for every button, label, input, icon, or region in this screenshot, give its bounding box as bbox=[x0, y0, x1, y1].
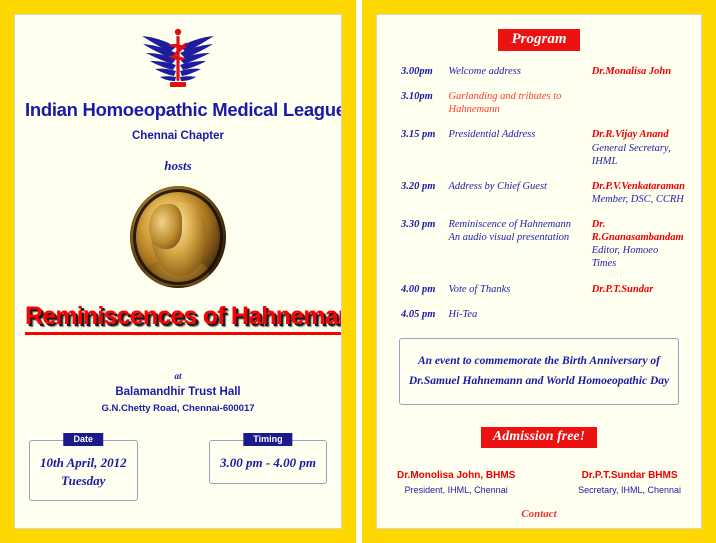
admission-badge: Admission free! bbox=[481, 427, 597, 448]
left-panel: Indian Homoeopathic Medical League Chenn… bbox=[0, 0, 356, 543]
contact-clinic-line: Dr.P.T.Sundar, Sree Padmini Homoeo Clini… bbox=[393, 527, 685, 529]
officer-president: Dr.Monolisa John, BHMS President, IHML, … bbox=[397, 470, 515, 495]
schedule-spacer bbox=[393, 299, 685, 308]
schedule-item: Welcome address bbox=[448, 65, 591, 81]
schedule-time: 3.20 pm bbox=[393, 180, 448, 209]
schedule-time: 3.00pm bbox=[393, 65, 448, 81]
program-heading-wrap: Program bbox=[393, 29, 685, 51]
date-box-legend: Date bbox=[64, 433, 104, 446]
officer-role: President, IHML, Chennai bbox=[397, 485, 515, 495]
schedule-person-name: Dr.P.V.Venkataraman bbox=[592, 180, 685, 193]
schedule-time: 3.10pm bbox=[393, 90, 448, 119]
ihml-logo bbox=[25, 23, 331, 97]
schedule-person: Dr. R.GnanasambandamEditor, Homoeo Times bbox=[592, 218, 685, 274]
schedule-item-sub: An audio visual presentation bbox=[448, 231, 591, 244]
schedule-person-name: Dr.P.T.Sundar bbox=[592, 283, 685, 296]
commemoration-line-2: Dr.Samuel Hahnemann and World Homoeopath… bbox=[408, 371, 670, 391]
commemoration-note: An event to commemorate the Birth Annive… bbox=[399, 338, 679, 405]
timing-box-legend: Timing bbox=[243, 433, 292, 446]
commemoration-line-1: An event to commemorate the Birth Annive… bbox=[408, 351, 670, 371]
officer-role: Secretary, IHML, Chennai bbox=[578, 485, 681, 495]
hosts-word: hosts bbox=[25, 158, 331, 174]
schedule-item: Reminiscence of HahnemannAn audio visual… bbox=[448, 218, 591, 274]
schedule-row: 3.10pmGarlanding and tributes to Hahnema… bbox=[393, 90, 685, 119]
schedule-person: Dr.R.Vijay AnandGeneral Secretary, IHML bbox=[592, 128, 685, 170]
organization-name: Indian Homoeopathic Medical League bbox=[25, 99, 331, 121]
schedule-person-name: Dr.R.Vijay Anand bbox=[592, 128, 685, 141]
timing-box: Timing 3.00 pm - 4.00 pm bbox=[209, 440, 327, 484]
winged-caduceus-icon bbox=[130, 25, 226, 95]
schedule-spacer bbox=[393, 81, 685, 90]
schedule-row: 3.00pmWelcome addressDr.Monalisa John bbox=[393, 65, 685, 81]
right-panel-content: Program 3.00pmWelcome addressDr.Monalisa… bbox=[376, 14, 702, 529]
schedule-person: Dr.P.V.VenkataramanMember, DSC, CCRH bbox=[592, 180, 685, 209]
contact-clinic-name: Sree Padmini Homoeo Clinic bbox=[512, 528, 636, 529]
medal-image bbox=[130, 186, 226, 288]
schedule-person-title: General Secretary, IHML bbox=[592, 142, 685, 168]
venue-preposition: at bbox=[25, 371, 331, 381]
schedule-person bbox=[592, 308, 685, 324]
venue-name: Balamandhir Trust Hall bbox=[25, 386, 331, 398]
schedule-person-title: Member, DSC, CCRH bbox=[592, 193, 685, 206]
schedule-time: 3.15 pm bbox=[393, 128, 448, 170]
hahnemann-medal bbox=[25, 186, 331, 288]
medal-rim bbox=[133, 189, 223, 285]
officer-secretary: Dr.P.T.Sundar BHMS Secretary, IHML, Chen… bbox=[578, 470, 681, 495]
schedule-row: 3.20 pmAddress by Chief GuestDr.P.V.Venk… bbox=[393, 180, 685, 209]
schedule-time: 3.30 pm bbox=[393, 218, 448, 274]
schedule-item: Garlanding and tributes to Hahnemann bbox=[448, 90, 591, 119]
officers-row: Dr.Monolisa John, BHMS President, IHML, … bbox=[393, 470, 685, 495]
officer-name: Dr.P.T.Sundar BHMS bbox=[578, 470, 681, 481]
schedule-person-title: Editor, Homoeo Times bbox=[592, 244, 685, 270]
date-time-row: Date 10th April, 2012 Tuesday Timing 3.0… bbox=[25, 440, 331, 501]
chapter-name: Chennai Chapter bbox=[25, 130, 331, 142]
schedule-spacer bbox=[393, 274, 685, 283]
date-box: Date 10th April, 2012 Tuesday bbox=[29, 440, 138, 501]
schedule-item-main: Reminiscence of Hahnemann bbox=[448, 218, 591, 231]
event-title: Reminiscences of Hahnemann bbox=[25, 302, 342, 335]
admission-wrap: Admission free! bbox=[393, 427, 685, 448]
schedule-spacer bbox=[393, 171, 685, 180]
right-panel: Program 3.00pmWelcome addressDr.Monalisa… bbox=[362, 0, 716, 543]
schedule-item: Presidential Address bbox=[448, 128, 591, 170]
contact-details: Dr.P.T.Sundar, Sree Padmini Homoeo Clini… bbox=[393, 527, 685, 529]
venue-address: G.N.Chetty Road, Chennai-600017 bbox=[25, 403, 331, 414]
contact-person-name: Dr.P.T.Sundar, bbox=[442, 527, 511, 529]
schedule-row: 4.05 pmHi-Tea bbox=[393, 308, 685, 324]
schedule-person-name: Dr. R.Gnanasambandam bbox=[592, 218, 685, 244]
left-panel-content: Indian Homoeopathic Medical League Chenn… bbox=[14, 14, 342, 529]
officer-name: Dr.Monolisa John, BHMS bbox=[397, 470, 515, 481]
timing-value: 3.00 pm - 4.00 pm bbox=[220, 454, 316, 472]
schedule-person-name: Dr.Monalisa John bbox=[592, 65, 685, 78]
schedule-person: Dr.P.T.Sundar bbox=[592, 283, 685, 299]
contact-heading: Contact bbox=[393, 508, 685, 520]
schedule-person: Dr.Monalisa John bbox=[592, 65, 685, 81]
date-value-line2: Tuesday bbox=[40, 472, 127, 490]
date-value-line1: 10th April, 2012 bbox=[40, 454, 127, 472]
schedule-row: 3.15 pmPresidential AddressDr.R.Vijay An… bbox=[393, 128, 685, 170]
schedule-time: 4.05 pm bbox=[393, 308, 448, 324]
schedule-row: 4.00 pmVote of ThanksDr.P.T.Sundar bbox=[393, 283, 685, 299]
invitation-flyer: Indian Homoeopathic Medical League Chenn… bbox=[0, 0, 716, 543]
program-heading: Program bbox=[498, 29, 579, 51]
program-schedule: 3.00pmWelcome addressDr.Monalisa John3.1… bbox=[393, 65, 685, 324]
schedule-spacer bbox=[393, 209, 685, 218]
schedule-time: 4.00 pm bbox=[393, 283, 448, 299]
schedule-row: 3.30 pmReminiscence of HahnemannAn audio… bbox=[393, 218, 685, 274]
schedule-item: Vote of Thanks bbox=[448, 283, 591, 299]
schedule-item: Hi-Tea bbox=[448, 308, 591, 324]
schedule-item: Address by Chief Guest bbox=[448, 180, 591, 209]
schedule-spacer bbox=[393, 119, 685, 128]
schedule-person bbox=[592, 90, 685, 119]
